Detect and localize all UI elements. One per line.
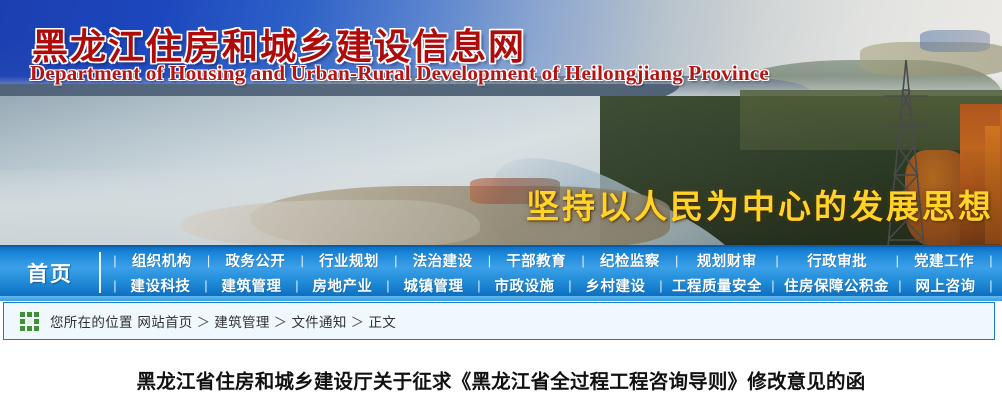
- nav-separator: |: [291, 253, 313, 268]
- nav-separator: |: [650, 278, 672, 293]
- nav-item-r1-9[interactable]: 党建工作: [908, 248, 980, 273]
- nav-separator: |: [886, 253, 908, 268]
- nav-item-r2-9[interactable]: 网上咨询: [911, 273, 980, 298]
- breadcrumb-separator: ＞: [274, 315, 288, 331]
- page-root: 黑龙江住房和城乡建设信息网 Department of Housing and …: [0, 0, 1002, 408]
- nav-item-r2-6[interactable]: 乡村建设: [581, 273, 650, 298]
- breadcrumb-separator: ＞: [197, 315, 211, 331]
- nav-item-r1-7[interactable]: 规划财审: [688, 248, 766, 273]
- article-title: 黑龙江省住房和城乡建设厅关于征求《黑龙江省全过程工程咨询导则》修改意见的函: [0, 365, 1002, 394]
- breadcrumb-text: 您所在的位置 网站首页＞建筑管理＞文件通知＞正文: [50, 311, 396, 331]
- nav-home-divider: [99, 252, 101, 293]
- nav-separator: |: [889, 278, 911, 293]
- nav-item-r1-8[interactable]: 行政审批: [788, 248, 886, 273]
- nav-separator: |: [468, 278, 490, 293]
- nav-separator: |: [104, 253, 126, 268]
- banner-distant-village: [920, 30, 990, 52]
- breadcrumb-item-2[interactable]: 建筑管理: [214, 315, 269, 331]
- breadcrumb-separator: ＞: [351, 315, 365, 331]
- site-banner: 黑龙江住房和城乡建设信息网 Department of Housing and …: [0, 0, 1002, 245]
- nav-item-r1-4[interactable]: 法治建设: [407, 248, 479, 273]
- nav-row-secondary: |建设科技|建筑管理|房地产业|城镇管理|市政设施|乡村建设|工程质量安全|住房…: [104, 273, 1002, 298]
- nav-item-home[interactable]: 首页: [0, 247, 100, 298]
- nav-item-r2-3[interactable]: 房地产业: [308, 273, 377, 298]
- nav-separator: |: [286, 278, 308, 293]
- nav-item-r1-1[interactable]: 组织机构: [126, 248, 198, 273]
- nav-separator: |: [195, 278, 217, 293]
- nav-item-r2-7[interactable]: 工程质量安全: [672, 273, 762, 298]
- nav-separator: |: [385, 253, 407, 268]
- banner-sandbar-2: [180, 200, 480, 245]
- nav-separator: |: [572, 253, 594, 268]
- nav-item-r2-4[interactable]: 城镇管理: [399, 273, 468, 298]
- nav-row-primary: |组织机构|政务公开|行业规划|法治建设|干部教育|纪检监察|规划财审|行政审批…: [104, 248, 1002, 273]
- breadcrumb-item-1[interactable]: 网站首页: [137, 315, 192, 331]
- breadcrumb-item-3[interactable]: 文件通知: [291, 315, 346, 331]
- nav-separator: |: [104, 278, 126, 293]
- nav-item-r1-3[interactable]: 行业规划: [313, 248, 385, 273]
- nav-separator: |: [980, 278, 1002, 293]
- nav-separator: |: [766, 253, 788, 268]
- nav-item-r2-5[interactable]: 市政设施: [490, 273, 559, 298]
- nav-separator: |: [377, 278, 399, 293]
- site-title-en: Department of Housing and Urban-Rural De…: [30, 61, 769, 86]
- nav-item-r1-6[interactable]: 纪检监察: [594, 248, 666, 273]
- nav-separator: |: [762, 278, 784, 293]
- nav-grid: |组织机构|政务公开|行业规划|法治建设|干部教育|纪检监察|规划财审|行政审批…: [104, 247, 1002, 298]
- nav-item-r2-2[interactable]: 建筑管理: [217, 273, 286, 298]
- banner-slogan: 坚持以人民为中心的发展思想: [526, 180, 994, 228]
- breadcrumb: 您所在的位置 网站首页＞建筑管理＞文件通知＞正文: [3, 302, 995, 340]
- grid-icon: [20, 312, 39, 331]
- nav-separator: |: [980, 253, 1002, 268]
- nav-item-r1-5[interactable]: 干部教育: [501, 248, 573, 273]
- nav-separator: |: [198, 253, 220, 268]
- nav-item-r2-1[interactable]: 建设科技: [126, 273, 195, 298]
- nav-item-r2-8[interactable]: 住房保障公积金: [784, 273, 889, 298]
- breadcrumb-prefix: 您所在的位置: [50, 315, 137, 331]
- nav-separator: |: [559, 278, 581, 293]
- nav-separator: |: [666, 253, 688, 268]
- nav-separator: |: [479, 253, 501, 268]
- nav-item-r1-2[interactable]: 政务公开: [220, 248, 292, 273]
- main-navigation: 首页 |组织机构|政务公开|行业规划|法治建设|干部教育|纪检监察|规划财审|行…: [0, 245, 1002, 296]
- breadcrumb-item-4: 正文: [368, 315, 396, 331]
